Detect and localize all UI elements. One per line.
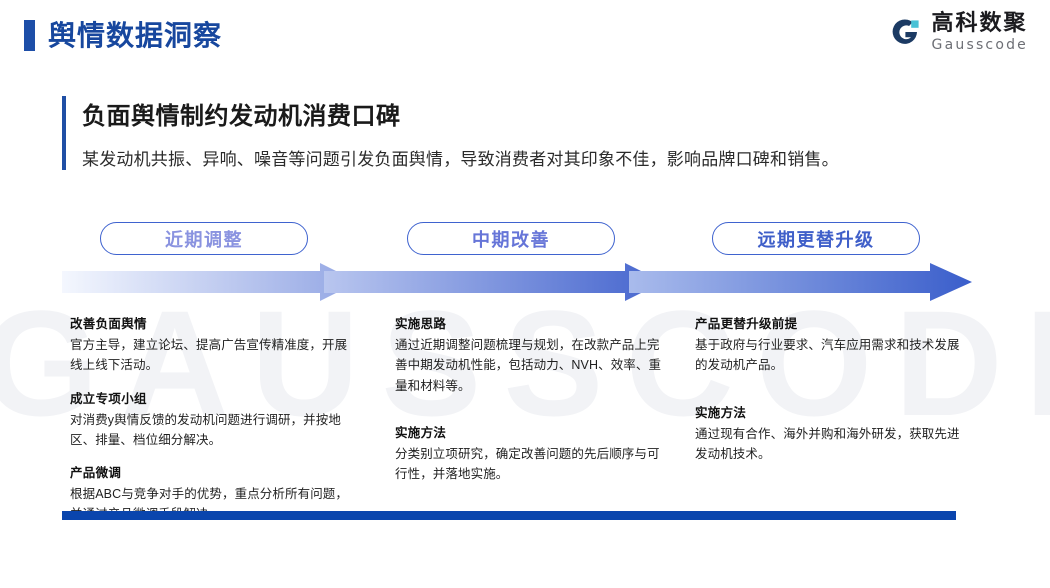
content-block-heading: 成立专项小组 (70, 388, 355, 407)
brand-name-en: Gausscode (932, 38, 1028, 52)
content-block: 实施思路 通过近期调整问题梳理与规划，在改款产品上完善中期发动机性能，包括动力、… (395, 313, 665, 396)
gausscode-mark-icon (887, 14, 923, 50)
footer-bar (62, 511, 956, 520)
content-block-body: 官方主导，建立论坛、提高广告宣传精准度，开展线上线下活动。 (70, 335, 355, 376)
subheadline: 某发动机共振、异响、噪音等问题引发负面舆情，导致消费者对其印象不佳，影响品牌口碑… (82, 145, 962, 170)
content-block-heading: 实施思路 (395, 313, 665, 332)
content-block: 实施方法 分类别立项研究，确定改善问题的先后顺序与可行性，并落地实施。 (395, 422, 665, 485)
content-block-body: 通过现有合作、海外并购和海外研发，获取先进发动机技术。 (695, 424, 965, 465)
slide-header: 舆情数据洞察 高科数聚 Gausscode (0, 0, 1050, 70)
slide: GAUSSCODE 舆情数据洞察 高科数聚 Gausscode 负面舆情制约发动… (0, 0, 1050, 588)
content-block-body: 对消费y舆情反馈的发动机问题进行调研，并按地区、排量、档位细分解决。 (70, 410, 355, 451)
stage-column-mid-term: 实施思路 通过近期调整问题梳理与规划，在改款产品上完善中期发动机性能，包括动力、… (395, 313, 665, 484)
brand-logo-text: 高科数聚 Gausscode (932, 12, 1028, 52)
content-block-body: 基于政府与行业要求、汽车应用需求和技术发展的发动机产品。 (695, 335, 965, 376)
content-block-heading: 实施方法 (695, 402, 965, 421)
headline: 负面舆情制约发动机消费口碑 (82, 96, 962, 131)
content-block-heading: 实施方法 (395, 422, 665, 441)
content-block-body: 通过近期调整问题梳理与规划，在改款产品上完善中期发动机性能，包括动力、NVH、效… (395, 335, 665, 396)
stage-pill-label: 中期改善 (472, 226, 550, 252)
stage-pill-label: 远期更替升级 (758, 226, 875, 252)
brand-name-cn: 高科数聚 (932, 12, 1028, 34)
content-block: 改善负面舆情 官方主导，建立论坛、提高广告宣传精准度，开展线上线下活动。 (70, 313, 355, 376)
stage-pill-near-term[interactable]: 近期调整 (100, 222, 308, 255)
stage-pill-long-term[interactable]: 远期更替升级 (712, 222, 920, 255)
timeline-arrow (62, 263, 972, 301)
content-block-body: 分类别立项研究，确定改善问题的先后顺序与可行性，并落地实施。 (395, 444, 665, 485)
stage-column-long-term: 产品更替升级前提 基于政府与行业要求、汽车应用需求和技术发展的发动机产品。 实施… (695, 313, 965, 464)
stage-pill-mid-term[interactable]: 中期改善 (407, 222, 615, 255)
content-block-heading: 产品更替升级前提 (695, 313, 965, 332)
stage-pill-label: 近期调整 (165, 226, 243, 252)
stage-column-near-term: 改善负面舆情 官方主导，建立论坛、提高广告宣传精准度，开展线上线下活动。 成立专… (70, 313, 355, 525)
brand-logo: 高科数聚 Gausscode (887, 12, 1028, 52)
content-block-heading: 产品微调 (70, 462, 355, 481)
content-block-heading: 改善负面舆情 (70, 313, 355, 332)
content-block: 实施方法 通过现有合作、海外并购和海外研发，获取先进发动机技术。 (695, 402, 965, 465)
title-block: 负面舆情制约发动机消费口碑 某发动机共振、异响、噪音等问题引发负面舆情，导致消费… (62, 96, 962, 170)
content-block: 产品更替升级前提 基于政府与行业要求、汽车应用需求和技术发展的发动机产品。 (695, 313, 965, 376)
page-title: 舆情数据洞察 (48, 14, 222, 54)
header-accent-tick-icon (24, 20, 35, 51)
content-block: 成立专项小组 对消费y舆情反馈的发动机问题进行调研，并按地区、排量、档位细分解决… (70, 388, 355, 451)
